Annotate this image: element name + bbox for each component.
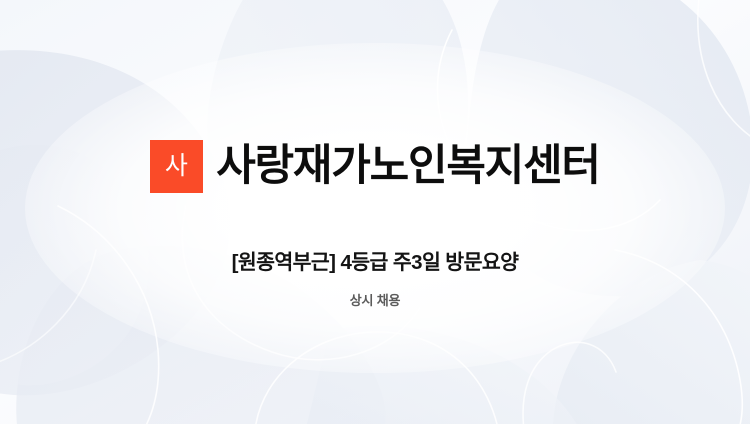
company-name: 사랑재가노인복지센터 <box>216 144 600 189</box>
job-title: [원종역부근] 4등급 주3일 방문요양 <box>232 251 519 276</box>
hiring-type-label: 상시 채용 <box>350 293 400 309</box>
company-logo-badge: 사 <box>150 140 203 193</box>
company-header: 사 사랑재가노인복지센터 <box>150 116 600 219</box>
logo-badge-text: 사 <box>165 154 189 179</box>
job-posting-banner: 사 사랑재가노인복지센터 [원종역부근] 4등급 주3일 방문요양 상시 채용 <box>0 0 750 424</box>
banner-content: 사 사랑재가노인복지센터 [원종역부근] 4등급 주3일 방문요양 상시 채용 <box>0 0 750 424</box>
